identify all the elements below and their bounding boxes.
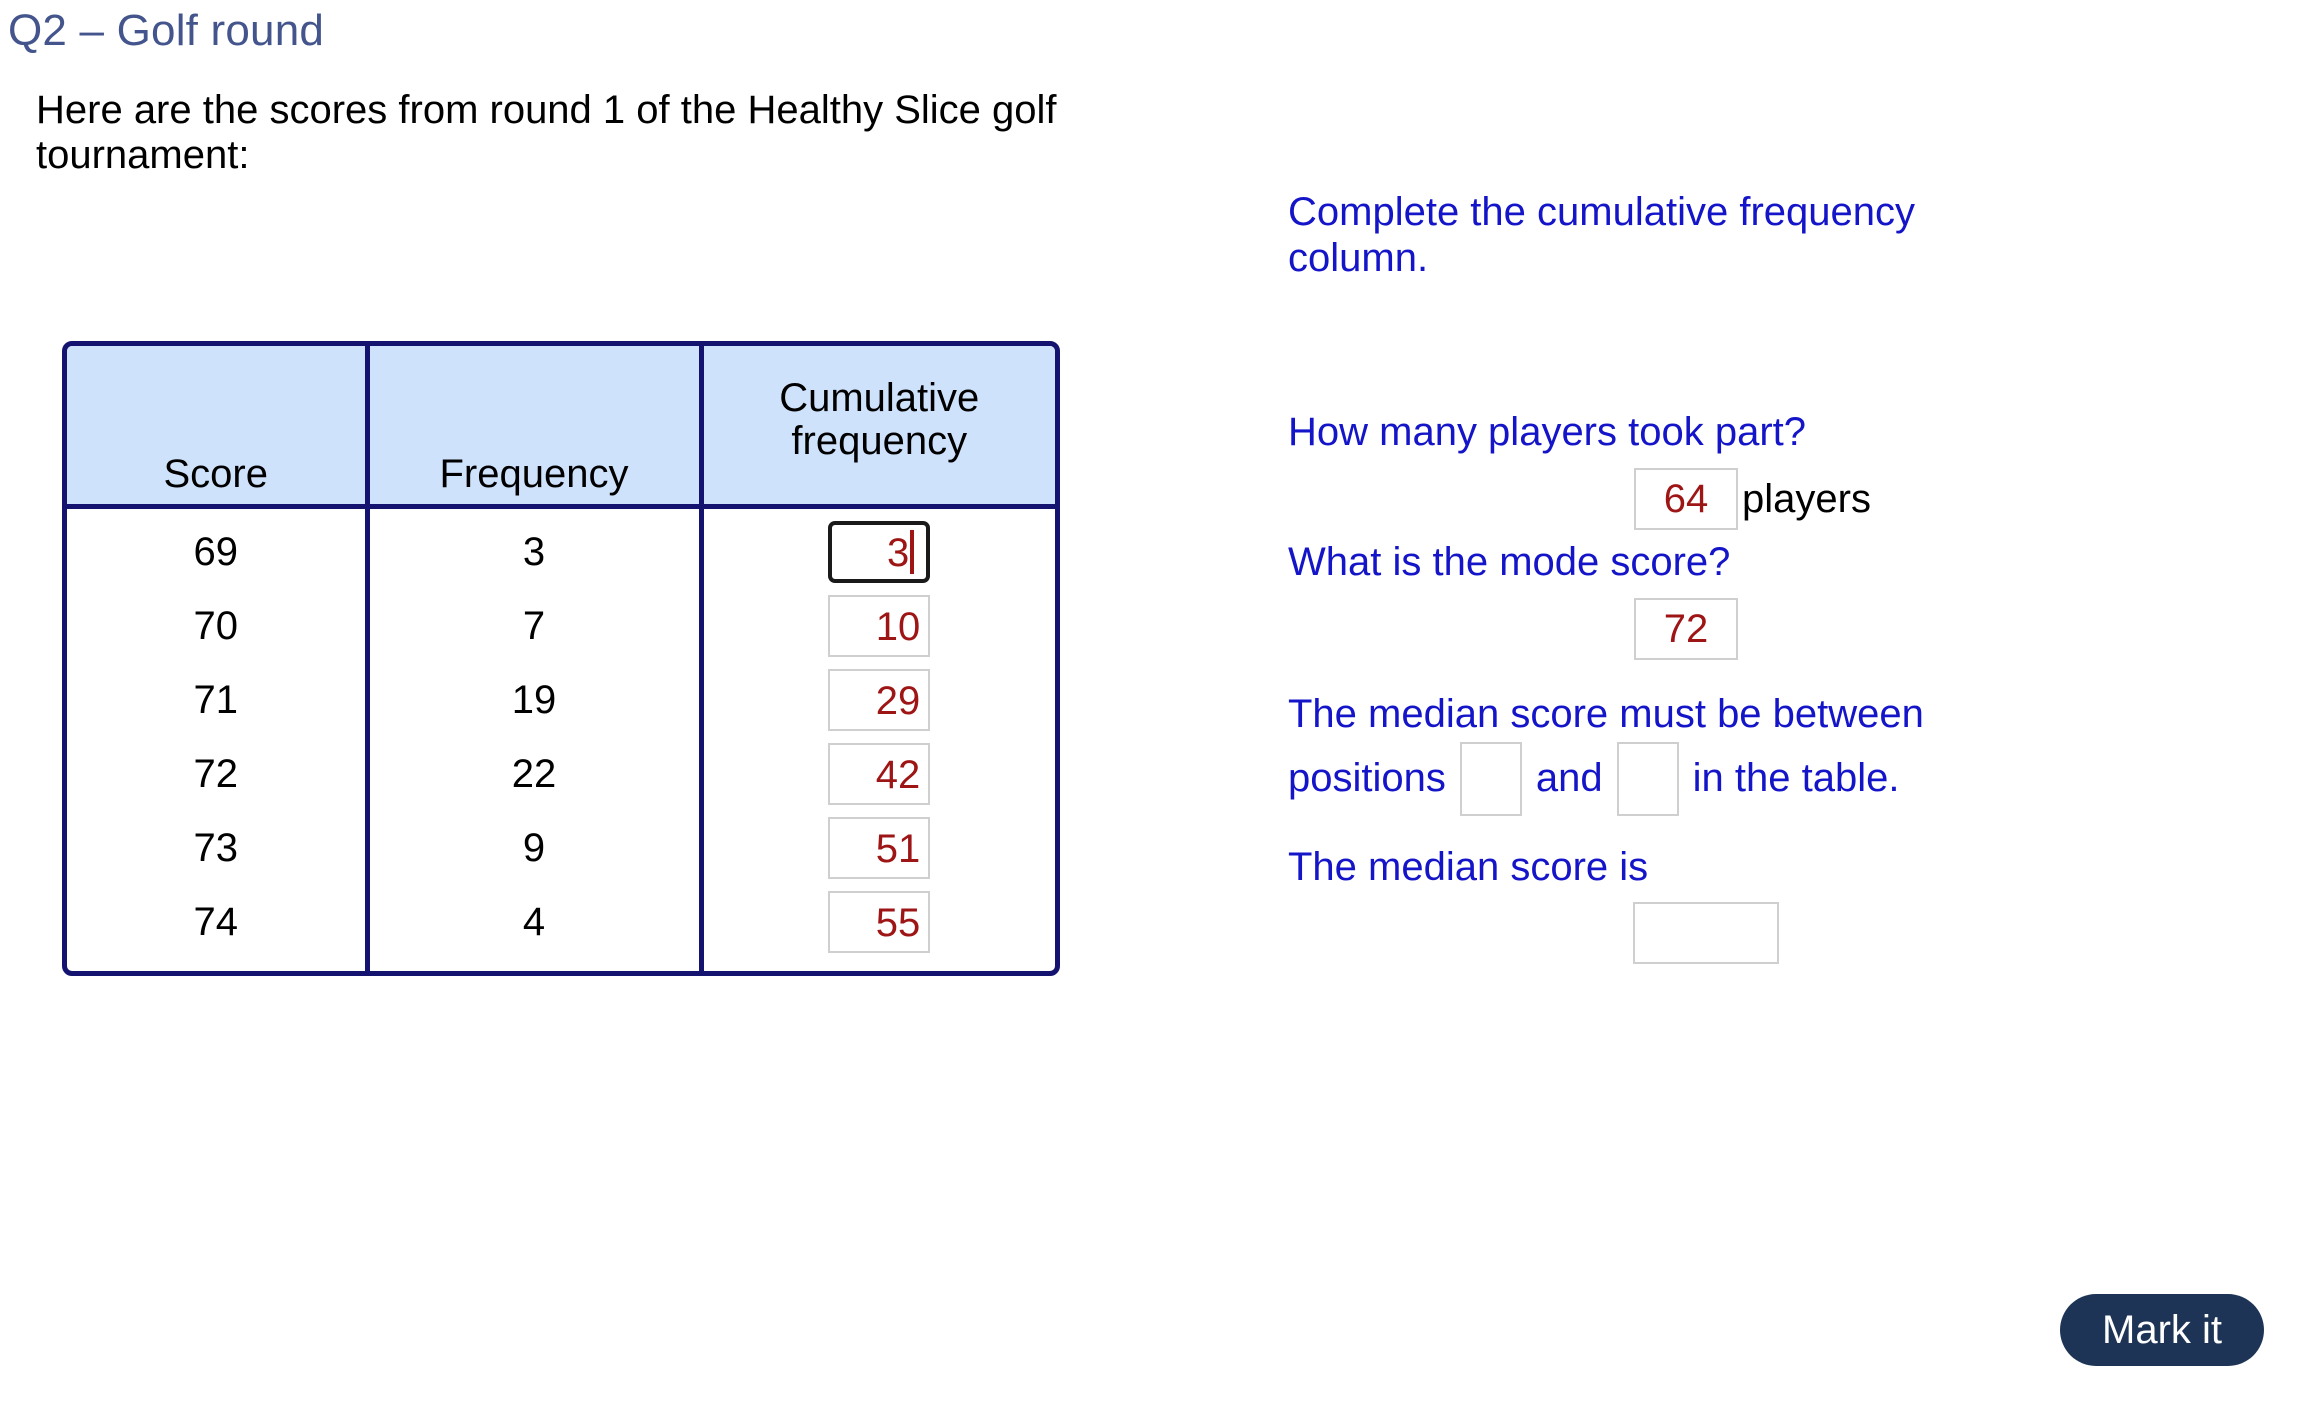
cumulative-input-row-1[interactable]: 3 bbox=[828, 521, 930, 583]
answer-row-players: 64 players bbox=[1634, 468, 1871, 530]
cell-frequency: 9 bbox=[367, 811, 701, 885]
intro-text: Here are the scores from round 1 of the … bbox=[36, 88, 1096, 178]
question-mode-score: What is the mode score? bbox=[1288, 540, 2048, 586]
question-complete-cumulative: Complete the cumulative frequency column… bbox=[1288, 190, 1968, 281]
positions-label: positions bbox=[1288, 756, 1446, 802]
table-row: 72 22 42 bbox=[67, 737, 1055, 811]
column-header-cumulative-frequency: Cumulative frequency bbox=[701, 346, 1055, 507]
cell-frequency: 4 bbox=[367, 885, 701, 971]
mark-it-button[interactable]: Mark it bbox=[2060, 1294, 2264, 1366]
table-row: 74 4 55 bbox=[67, 885, 1055, 971]
cumulative-input-row-6[interactable]: 55 bbox=[828, 891, 930, 953]
players-answer-input[interactable]: 64 bbox=[1634, 468, 1738, 530]
cumulative-input-row-2[interactable]: 10 bbox=[828, 595, 930, 657]
score-frequency-table: Score Frequency Cumulative frequency 69 … bbox=[62, 341, 1060, 976]
answer-row-mode: 72 bbox=[1634, 598, 1738, 660]
question-how-many-players: How many players took part? bbox=[1288, 410, 2048, 456]
question-median-positions-line2: positions and in the table. bbox=[1288, 742, 1899, 816]
in-the-table-label: in the table. bbox=[1693, 756, 1900, 802]
table-header-row: Score Frequency Cumulative frequency bbox=[67, 346, 1055, 507]
median-position-high-input[interactable] bbox=[1617, 742, 1679, 816]
cell-cumulative: 55 bbox=[701, 885, 1055, 971]
cell-cumulative: 51 bbox=[701, 811, 1055, 885]
cell-frequency: 19 bbox=[367, 663, 701, 737]
cell-frequency: 3 bbox=[367, 507, 701, 590]
cell-score: 70 bbox=[67, 589, 367, 663]
cumulative-input-row-5[interactable]: 51 bbox=[828, 817, 930, 879]
text-cursor bbox=[910, 530, 914, 574]
median-position-low-input[interactable] bbox=[1460, 742, 1522, 816]
mode-answer-input[interactable]: 72 bbox=[1634, 598, 1738, 660]
question-median-score: The median score is bbox=[1288, 845, 2188, 891]
median-answer-input[interactable] bbox=[1633, 902, 1779, 964]
table-row: 71 19 29 bbox=[67, 663, 1055, 737]
question-median-positions-line1: The median score must be between bbox=[1288, 692, 2188, 738]
table-row: 70 7 10 bbox=[67, 589, 1055, 663]
table-row: 73 9 51 bbox=[67, 811, 1055, 885]
cell-frequency: 7 bbox=[367, 589, 701, 663]
table-row: 69 3 3 bbox=[67, 507, 1055, 590]
cumulative-input-row-4[interactable]: 42 bbox=[828, 743, 930, 805]
and-label: and bbox=[1536, 756, 1603, 802]
cell-cumulative: 3 bbox=[701, 507, 1055, 590]
cell-score: 73 bbox=[67, 811, 367, 885]
questions-panel: Complete the cumulative frequency column… bbox=[1288, 0, 2308, 1407]
cell-score: 71 bbox=[67, 663, 367, 737]
cell-cumulative: 10 bbox=[701, 589, 1055, 663]
cell-cumulative: 29 bbox=[701, 663, 1055, 737]
cumulative-input-row-3[interactable]: 29 bbox=[828, 669, 930, 731]
page-title: Q2 – Golf round bbox=[8, 6, 324, 56]
cell-cumulative: 42 bbox=[701, 737, 1055, 811]
cell-frequency: 22 bbox=[367, 737, 701, 811]
column-header-score: Score bbox=[67, 346, 367, 507]
cell-score: 74 bbox=[67, 885, 367, 971]
players-unit-label: players bbox=[1742, 477, 1871, 522]
cumulative-value-row-1: 3 bbox=[887, 531, 909, 575]
answer-row-median bbox=[1633, 902, 1779, 964]
cell-score: 72 bbox=[67, 737, 367, 811]
column-header-frequency: Frequency bbox=[367, 346, 701, 507]
cell-score: 69 bbox=[67, 507, 367, 590]
